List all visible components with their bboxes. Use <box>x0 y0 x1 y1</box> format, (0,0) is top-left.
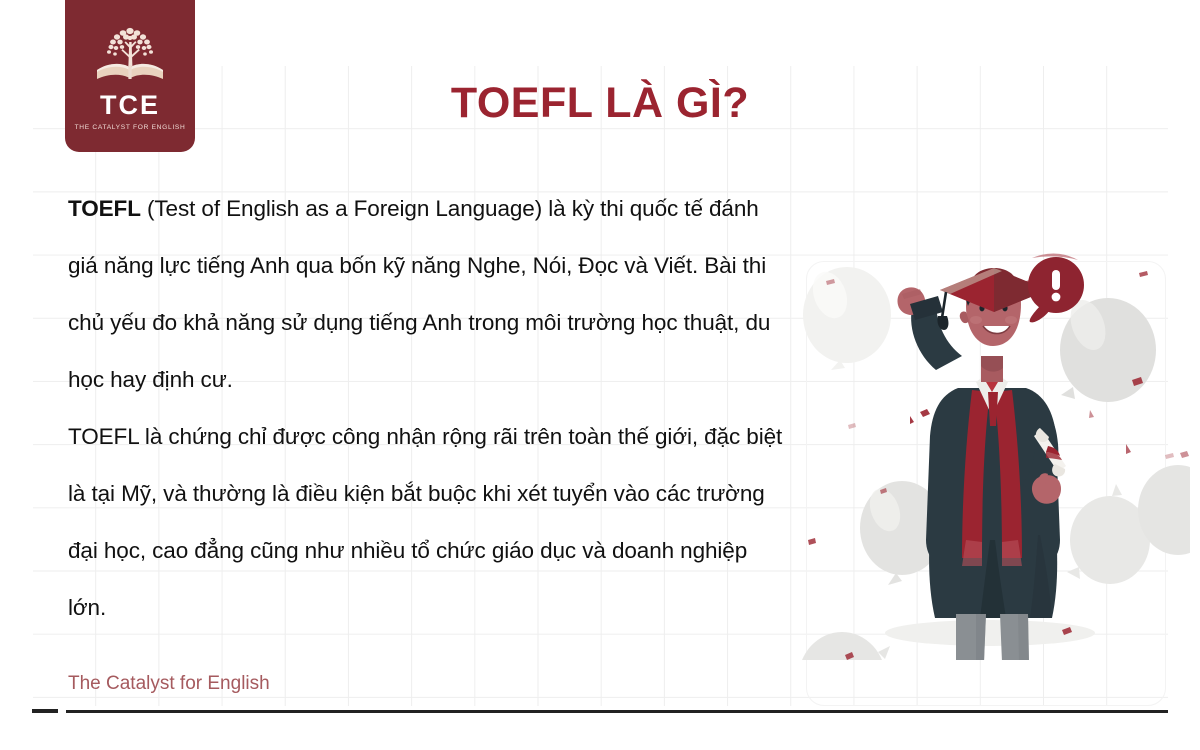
footer-caption: The Catalyst for English <box>68 673 270 695</box>
cap-tassel <box>942 292 946 318</box>
logo-initials: TCE <box>100 92 160 119</box>
paragraph-1: TOEFL (Test of English as a Foreign Lang… <box>68 180 783 408</box>
footer-rule <box>66 710 1168 713</box>
paragraph-2-text: TOEFL là chứng chỉ được công nhận rộng r… <box>68 424 782 620</box>
footer-dash <box>32 709 58 713</box>
tree-on-open-book-icon <box>91 16 169 86</box>
graduate-figure <box>897 268 1066 660</box>
body-content: TOEFL (Test of English as a Foreign Lang… <box>68 180 783 636</box>
slide-canvas: TCE THE CATALYST FOR ENGLISH TOEFL LÀ GÌ… <box>0 0 1200 750</box>
paragraph-1-lead: TOEFL <box>68 196 141 221</box>
logo-tagline: THE CATALYST FOR ENGLISH <box>75 124 186 131</box>
paragraph-1-text: (Test of English as a Foreign Language) … <box>68 196 770 392</box>
hand-right <box>1032 475 1061 504</box>
brand-logo-card: TCE THE CATALYST FOR ENGLISH <box>65 0 195 152</box>
paragraph-2: TOEFL là chứng chỉ được công nhận rộng r… <box>68 408 783 636</box>
graduate-celebrating-illustration <box>790 240 1190 660</box>
